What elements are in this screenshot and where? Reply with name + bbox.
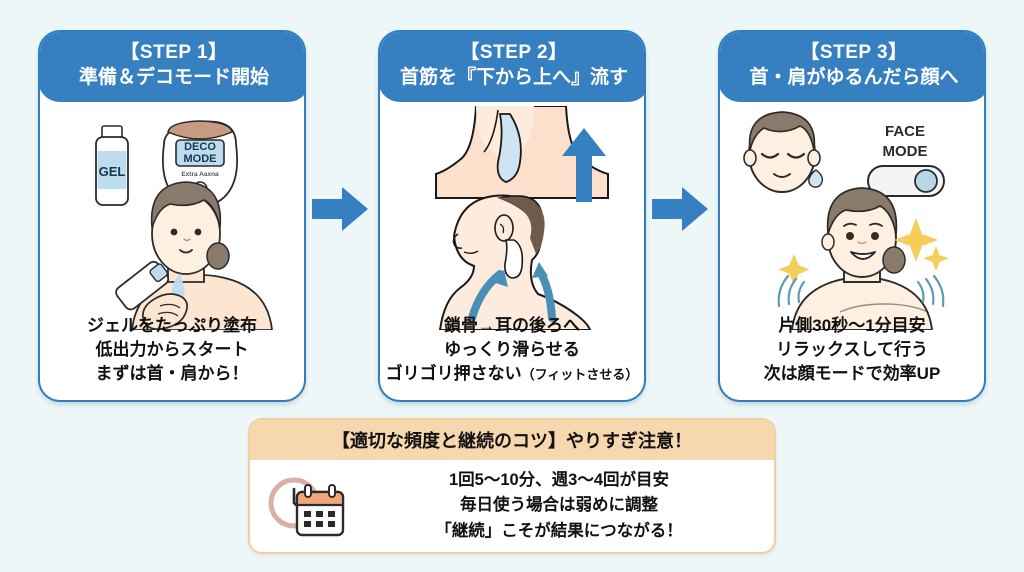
step-2-badge: 【STEP 2】: [460, 42, 567, 65]
face-mode-label-line1: FACE: [885, 123, 925, 140]
step-3-caption: 片側30秒〜1分目安 リラックスして行う 次は顔モードで効率UP: [720, 314, 984, 386]
step-1-caption: ジェルをたっぷり塗布 低出力からスタート まずは首・肩から！: [40, 314, 304, 386]
step-card-2: 【STEP 2】 首筋を『下から上へ』流す: [378, 30, 646, 402]
step-2-caption-sub: （フィットさせる）: [522, 367, 639, 382]
step-3-illustration: FACE MODE: [720, 106, 984, 330]
gel-bottle-label: GEL: [99, 164, 126, 179]
step-cards-row: 【STEP 1】 準備＆デコモード開始 GEL: [0, 0, 1024, 410]
step-2-caption-line-1: 鎖骨→耳の後ろへ: [380, 314, 644, 338]
tips-line-1: 1回5〜10分、週3〜4回が目安: [362, 468, 756, 493]
infographic-page: 【STEP 1】 準備＆デコモード開始 GEL: [0, 0, 1024, 572]
step-2-caption-main: ゴリゴリ押さない: [386, 364, 522, 383]
step-2-caption-line-3: ゴリゴリ押さない（フィットさせる）: [380, 362, 644, 386]
tips-body: 1回5〜10分、週3〜4回が目安 毎日使う場合は弱めに調整 「継続」こそが結果に…: [250, 460, 774, 552]
woman-applying-gel-illustration: [114, 182, 272, 330]
step-3-headline: 首・肩がゆるんだら顔へ: [749, 67, 958, 90]
step-2-headline: 首筋を『下から上へ』流す: [400, 67, 628, 90]
step-1-caption-line-1: ジェルをたっぷり塗布: [40, 314, 304, 338]
tips-line-3: 「継続」こそが結果につながる！: [362, 519, 756, 544]
step-1-badge: 【STEP 1】: [120, 42, 227, 65]
relaxed-face-icon: [744, 112, 822, 192]
tips-header: 【適切な頻度と継続のコツ】やりすぎ注意！: [250, 420, 774, 460]
step-2-caption: 鎖骨→耳の後ろへ ゆっくり滑らせる ゴリゴリ押さない（フィットさせる）: [380, 314, 644, 386]
step-2-caption-line-2: ゆっくり滑らせる: [380, 338, 644, 362]
deco-sublabel: Extra Aaxna: [181, 171, 219, 178]
step-2-header: 【STEP 2】 首筋を『下から上へ』流す: [378, 30, 646, 102]
tips-lines: 1回5〜10分、週3〜4回が目安 毎日使う場合は弱めに調整 「継続」こそが結果に…: [362, 468, 774, 543]
arrow-step2-to-step3-icon: [650, 185, 710, 233]
step-3-badge: 【STEP 3】: [800, 42, 907, 65]
smiling-woman-illustration: [779, 188, 949, 330]
gel-bottle-icon: GEL: [96, 126, 128, 205]
step-3-caption-line-3: 次は顔モードで効率UP: [720, 362, 984, 386]
step-1-illustration: GEL DECO MODE Extra Aaxna: [40, 106, 304, 330]
step-1-caption-line-2: 低出力からスタート: [40, 338, 304, 362]
step-3-caption-line-2: リラックスして行う: [720, 338, 984, 362]
arrow-step1-to-step2-icon: [310, 185, 370, 233]
clock-calendar-icon: [250, 473, 362, 539]
step-2-illustration: [380, 106, 644, 330]
step-card-3: 【STEP 3】 首・肩がゆるんだら顔へ: [718, 30, 986, 402]
face-mode-label-line2: MODE: [883, 143, 928, 160]
tips-panel: 【適切な頻度と継続のコツ】やりすぎ注意！ 1回5〜10分、週3〜4回: [248, 418, 776, 554]
step-3-header: 【STEP 3】 首・肩がゆるんだら顔へ: [718, 30, 986, 102]
tips-line-2: 毎日使う場合は弱めに調整: [362, 493, 756, 518]
step-1-headline: 準備＆デコモード開始: [79, 67, 269, 90]
deco-label-line2: MODE: [184, 153, 217, 165]
deco-label-line1: DECO: [184, 141, 216, 153]
step-1-header: 【STEP 1】 準備＆デコモード開始: [38, 30, 306, 102]
face-mode-toggle: FACE MODE: [868, 123, 944, 196]
step-3-caption-line-1: 片側30秒〜1分目安: [720, 314, 984, 338]
neck-profile-diagram: [440, 196, 590, 330]
step-card-1: 【STEP 1】 準備＆デコモード開始 GEL: [38, 30, 306, 402]
step-1-caption-line-3: まずは首・肩から！: [40, 362, 304, 386]
